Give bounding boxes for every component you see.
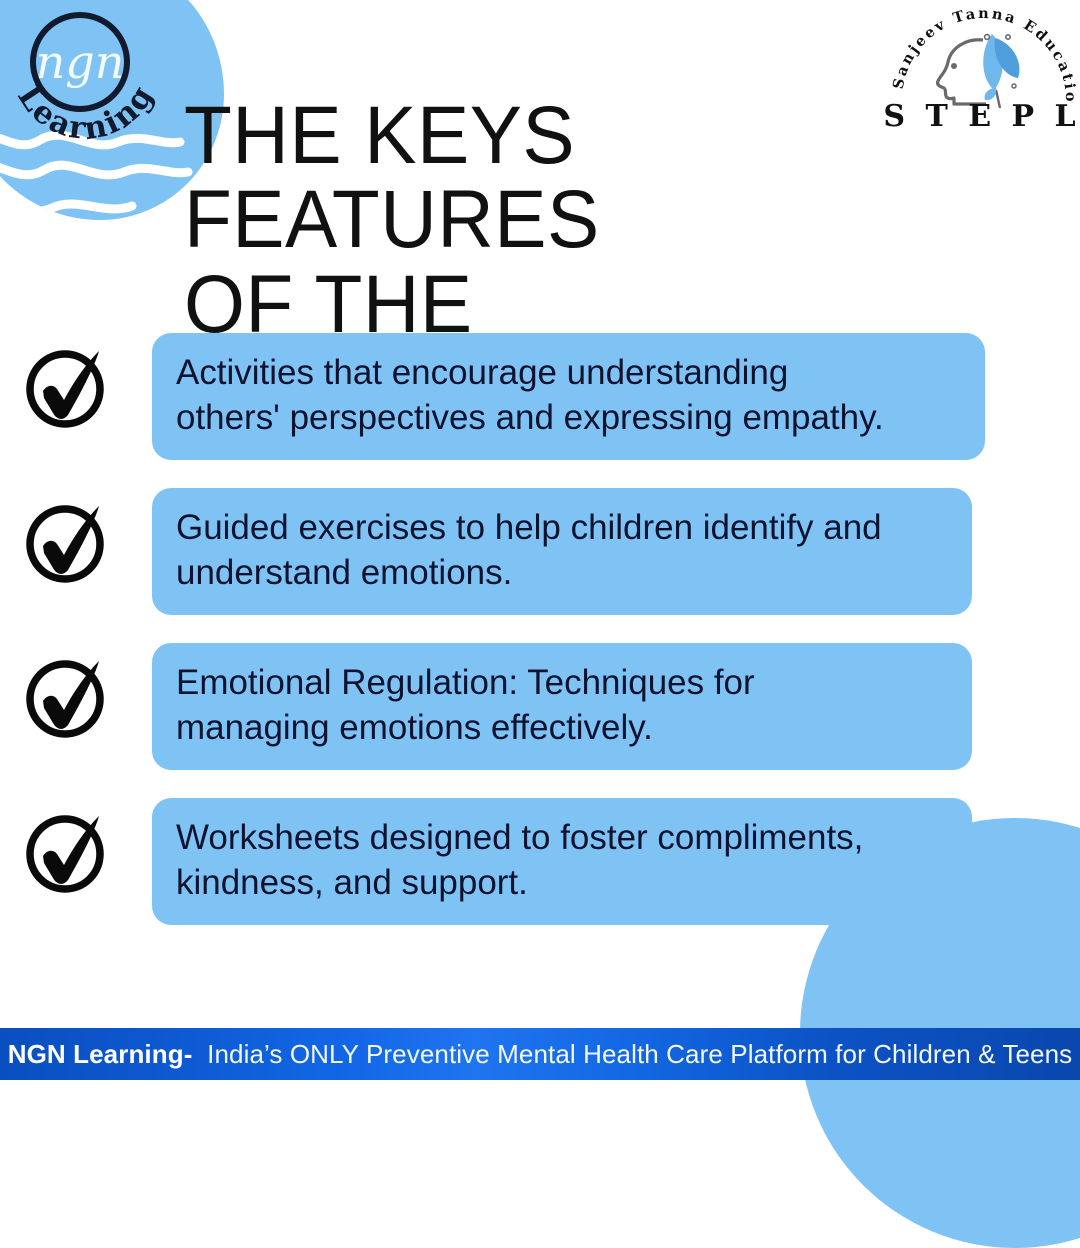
list-item: Emotional Regulation: Techniques for man… bbox=[0, 641, 1080, 796]
list-item: Guided exercises to help children identi… bbox=[0, 486, 1080, 641]
feature-text: Emotional Regulation: Techniques for man… bbox=[176, 660, 938, 751]
check-circle-icon bbox=[23, 339, 111, 431]
head-profile-icon bbox=[938, 40, 986, 104]
footer-tagline: India’s ONLY Preventive Mental Health Ca… bbox=[207, 1039, 1072, 1069]
list-item: Worksheets designed to foster compliment… bbox=[0, 796, 1080, 951]
check-circle-icon bbox=[23, 649, 111, 741]
feature-text: Activities that encourage understanding … bbox=[176, 350, 951, 441]
footer-separator: - bbox=[184, 1039, 193, 1069]
logo-mark-text: ngn bbox=[36, 35, 125, 89]
feature-card: Worksheets designed to foster compliment… bbox=[152, 798, 972, 925]
footer-bar: NGN Learning- India’s ONLY Preventive Me… bbox=[0, 1028, 1080, 1080]
flower-petals-icon bbox=[983, 34, 1019, 108]
ngn-learning-logo: ngn Learning bbox=[8, 6, 178, 156]
feature-text: Guided exercises to help children identi… bbox=[176, 505, 938, 596]
feature-card: Guided exercises to help children identi… bbox=[152, 488, 972, 615]
check-circle-icon bbox=[23, 494, 111, 586]
feature-card: Emotional Regulation: Techniques for man… bbox=[152, 643, 972, 770]
feature-card: Activities that encourage understanding … bbox=[152, 333, 985, 460]
list-item: Activities that encourage understanding … bbox=[0, 331, 1080, 486]
footer-text: NGN Learning- India’s ONLY Preventive Me… bbox=[8, 1039, 1073, 1070]
feature-text: Worksheets designed to foster compliment… bbox=[176, 815, 938, 906]
check-circle-icon bbox=[23, 804, 111, 896]
stepl-partner-logo: Sanjeev Tanna Education S T E P L bbox=[888, 4, 1076, 128]
footer-brand: NGN Learning bbox=[8, 1039, 184, 1069]
features-list: Activities that encourage understanding … bbox=[0, 331, 1080, 951]
stepl-acronym: S T E P L bbox=[883, 99, 1080, 134]
stepl-arc-text: Sanjeev Tanna Education bbox=[881, 0, 1079, 104]
